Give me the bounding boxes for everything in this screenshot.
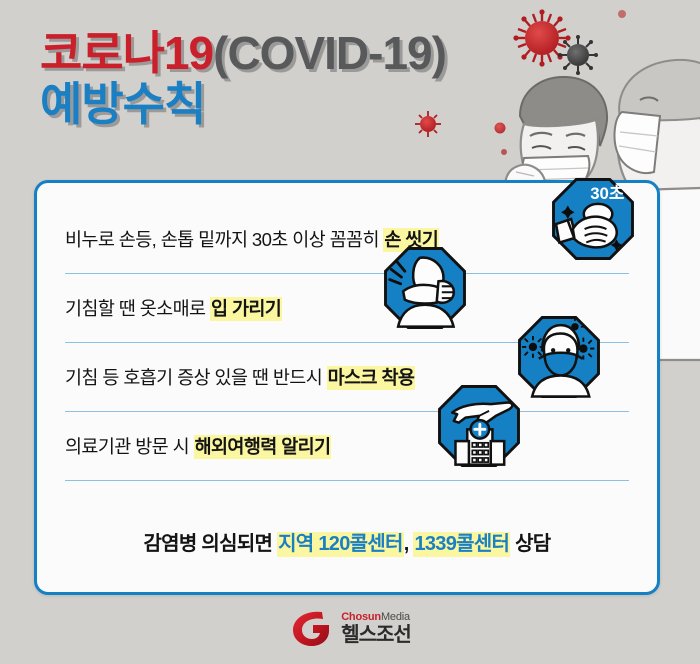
page-title: 코로나19(COVID-19) 예방수칙 — [40, 30, 446, 128]
rule-plain-text: 의료기관 방문 시 — [65, 436, 194, 457]
prevention-rules-card: 비누로 손등, 손톱 밑까지 30초 이상 꼼꼼히 손 씻기 — [34, 180, 660, 595]
chosun-media-logo: ChosunMedia 헬스조선 — [0, 608, 700, 648]
rule-highlight-text: 입 가리기 — [210, 297, 282, 321]
virus-particles — [415, 9, 626, 155]
rule-text: 의료기관 방문 시 해외여행력 알리기 — [65, 433, 331, 459]
rule-plain-text: 기침 등 호흡기 증상 있을 땐 반드시 — [65, 367, 327, 388]
logo-text: ChosunMedia 헬스조선 — [341, 612, 411, 645]
cough-into-sleeve-icon — [383, 246, 467, 330]
rule-plain-text: 기침할 땐 옷소매로 — [65, 298, 210, 319]
title-korean: 코로나19 — [40, 27, 213, 79]
badge-label-30s: 30초 — [590, 184, 624, 203]
rule-plain-text: 비누로 손등, 손톱 밑까지 30초 이상 꼼꼼히 — [65, 229, 383, 250]
face-mask-icon — [517, 315, 601, 399]
hand-washing-icon: 30초 — [551, 177, 635, 261]
call-center-line: 감염병 의심되면 지역 120콜센터, 1339콜센터 상담 — [37, 527, 657, 556]
rule-item-wear-mask: 기침 등 호흡기 증상 있을 땐 반드시 마스크 착용 — [65, 343, 629, 412]
call-line-local-center: 지역 120콜센터 — [277, 532, 404, 557]
rule-item-report-travel-history: 의료기관 방문 시 해외여행력 알리기 — [65, 412, 629, 481]
rule-text: 기침할 땐 옷소매로 입 가리기 — [65, 295, 282, 321]
rule-highlight-text: 마스크 착용 — [327, 366, 416, 390]
rule-highlight-text: 해외여행력 알리기 — [194, 435, 332, 459]
call-line-suffix: 상담 — [510, 533, 550, 555]
logo-brand-media: Media — [381, 611, 410, 623]
rule-item-hand-washing: 비누로 손등, 손톱 밑까지 30초 이상 꼼꼼히 손 씻기 — [65, 205, 629, 274]
title-english: (COVID-19) — [213, 27, 446, 79]
chosun-swoosh-icon — [289, 608, 333, 648]
airplane-hospital-icon — [437, 384, 521, 468]
logo-brand-kr: 헬스조선 — [341, 625, 411, 645]
rule-text: 기침 등 호흡기 증상 있을 땐 반드시 마스크 착용 — [65, 364, 415, 390]
call-line-prefix: 감염병 의심되면 — [143, 533, 277, 555]
logo-brand-en: ChosunMedia — [341, 612, 411, 623]
rule-list: 비누로 손등, 손톱 밑까지 30초 이상 꼼꼼히 손 씻기 — [37, 183, 657, 481]
call-line-separator: , — [404, 533, 414, 555]
title-subtitle: 예방수칙 — [40, 81, 446, 128]
logo-brand-chosun: Chosun — [341, 611, 381, 623]
call-line-1339-center: 1339콜센터 — [413, 532, 510, 557]
